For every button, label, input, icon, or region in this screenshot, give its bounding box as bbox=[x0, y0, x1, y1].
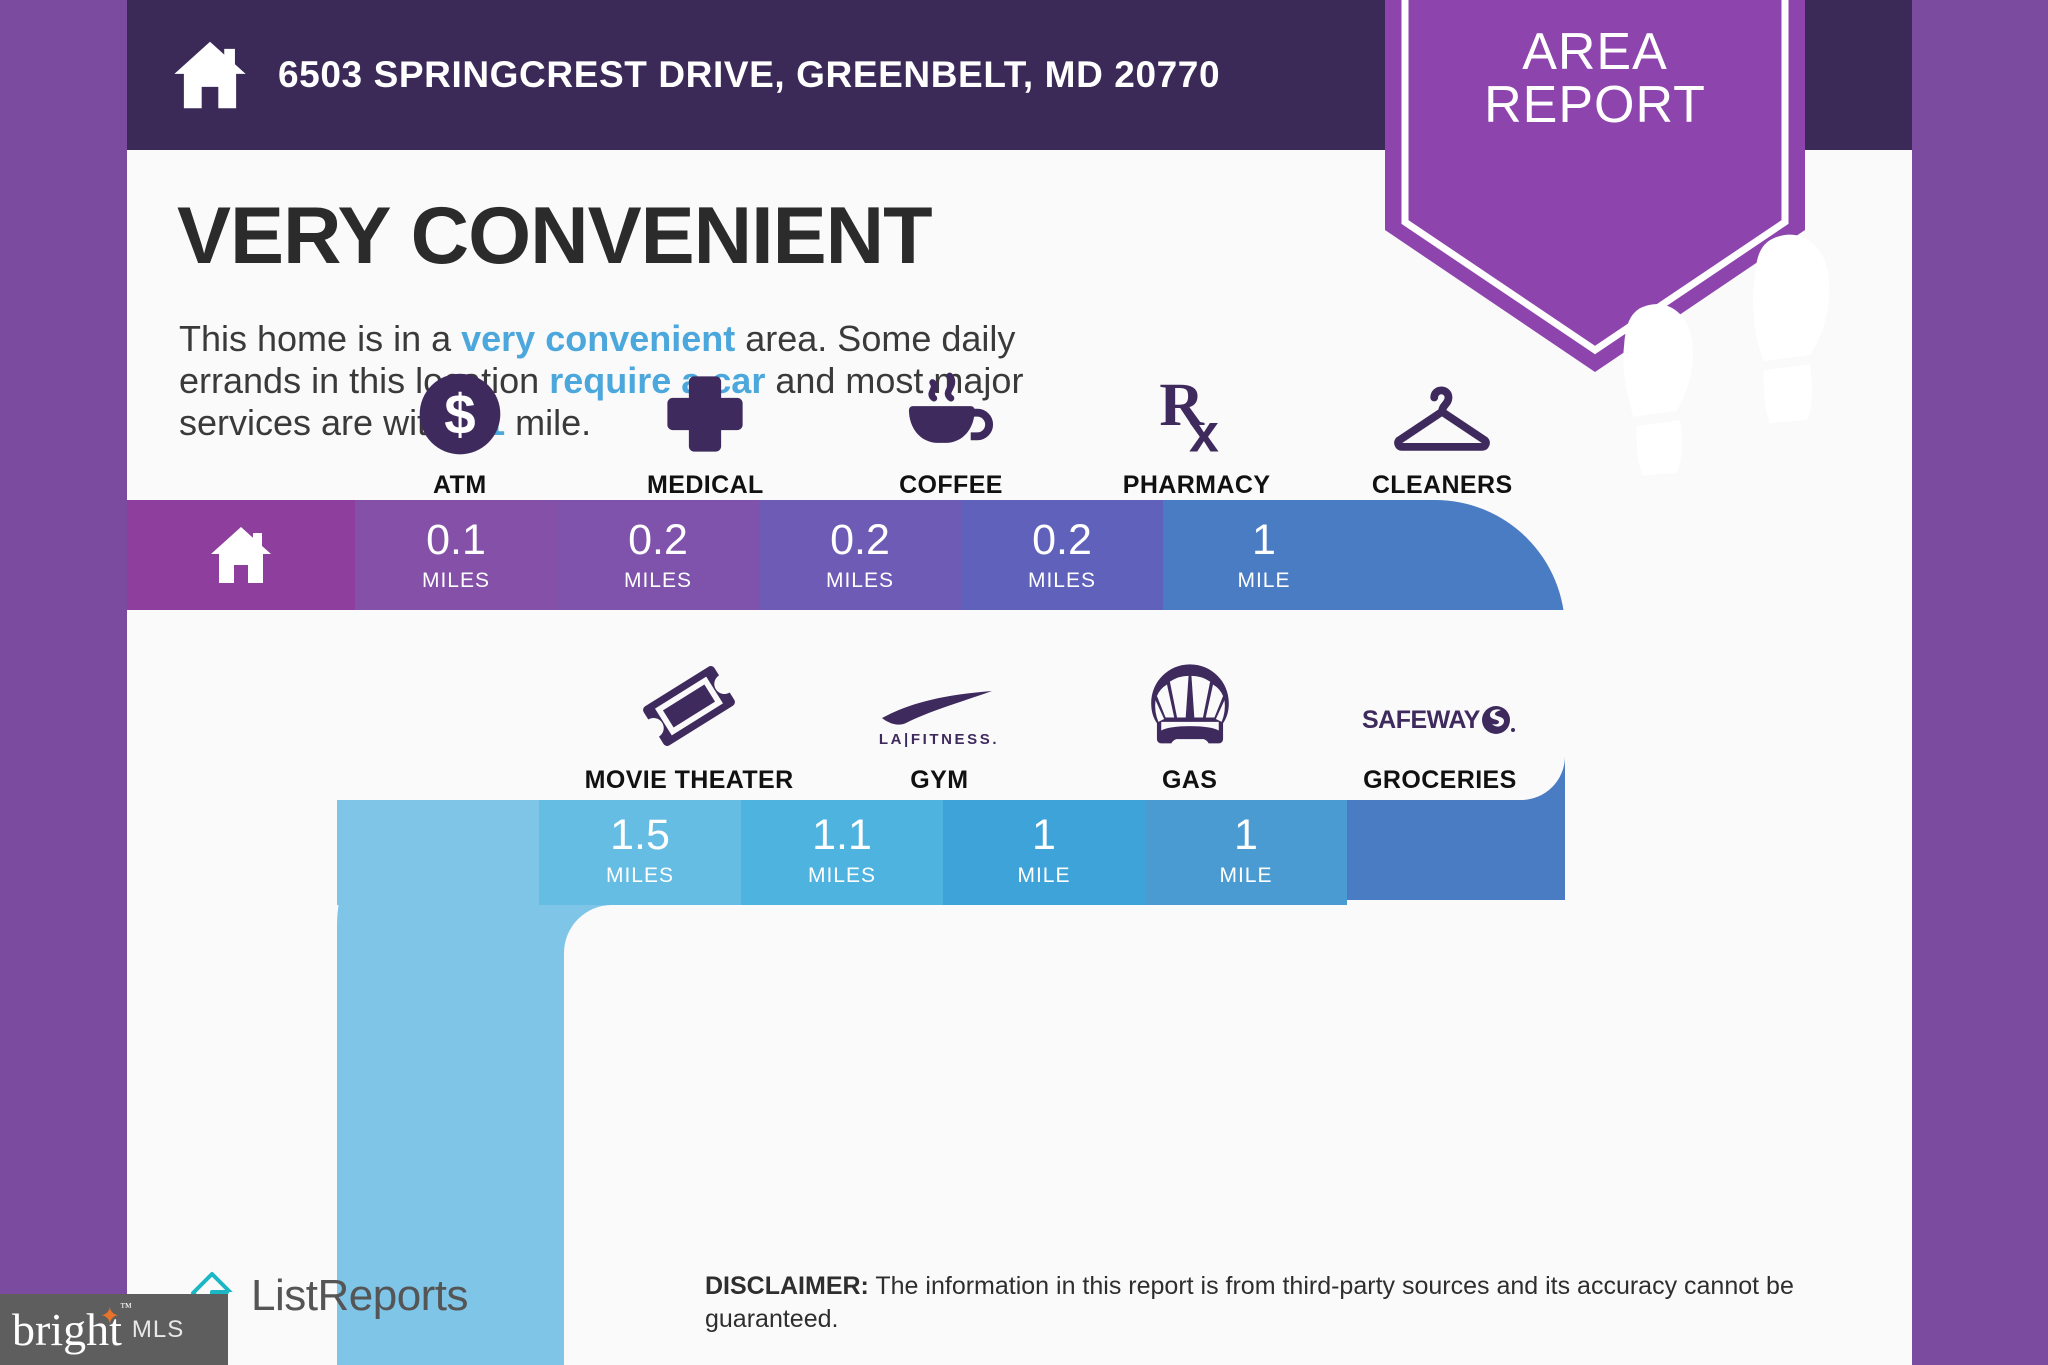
bright-mls-watermark: bright ✦ ™ MLS bbox=[0, 1294, 228, 1365]
movie-ticket-icon bbox=[643, 660, 735, 752]
svg-text:SAFEWAY: SAFEWAY bbox=[1362, 706, 1481, 734]
svg-text:LA|FITNESS.: LA|FITNESS. bbox=[879, 731, 999, 748]
bar-lead-cell bbox=[337, 795, 539, 905]
amenity-label: MEDICAL bbox=[647, 471, 764, 500]
listreports-name: ListReports bbox=[251, 1271, 468, 1321]
coffee-cup-icon bbox=[905, 371, 997, 457]
distance-value: 1.1 bbox=[812, 814, 872, 857]
distance-bar-row2: 1.5 MILES 1.1 MILES 1 MILE 1 MILE bbox=[337, 795, 1565, 905]
area-report-page: 6503 SPRINGCREST DRIVE, GREENBELT, MD 20… bbox=[0, 0, 2048, 1365]
amenity-label: MOVIE THEATER bbox=[585, 766, 794, 795]
amenity-label: ATM bbox=[433, 471, 487, 500]
distance-cell-pharmacy: 0.2 MILES bbox=[961, 500, 1163, 610]
amenity-pharmacy: R x PHARMACY bbox=[1074, 400, 1320, 500]
amenity-label: CLEANERS bbox=[1372, 471, 1513, 500]
distance-value: 0.2 bbox=[628, 519, 688, 562]
amenity-label: GAS bbox=[1162, 766, 1217, 795]
disclaimer: DISCLAIMER: The information in this repo… bbox=[705, 1270, 1815, 1337]
distance-value: 0.2 bbox=[1032, 519, 1092, 562]
distance-cell-gym: 1.1 MILES bbox=[741, 795, 943, 905]
distance-cell-coffee: 0.2 MILES bbox=[759, 500, 961, 610]
distance-unit: MILES bbox=[1028, 570, 1096, 591]
distance-value: 1.5 bbox=[610, 814, 670, 857]
watermark-bright: bright ✦ ™ bbox=[12, 1307, 122, 1353]
amenity-icons-row2: MOVIE THEATER LA|FITNESS. GYM bbox=[564, 690, 1565, 795]
amenity-label: COFFEE bbox=[899, 471, 1003, 500]
shell-logo bbox=[1144, 660, 1236, 752]
watermark-mls: MLS bbox=[132, 1316, 184, 1344]
distance-unit: MILES bbox=[826, 570, 894, 591]
dollar-circle-icon: $ bbox=[417, 371, 503, 457]
amenity-gas: GAS bbox=[1065, 690, 1315, 795]
distance-unit: MILES bbox=[808, 865, 876, 886]
content-sheet: 6503 SPRINGCREST DRIVE, GREENBELT, MD 20… bbox=[127, 0, 1912, 1365]
star-icon: ✦ bbox=[100, 1305, 120, 1329]
trademark-icon: ™ bbox=[120, 1301, 132, 1313]
distance-bar-row1: 0.1 MILES 0.2 MILES 0.2 MILES 0.2 MILES … bbox=[127, 500, 1365, 610]
disclaimer-label: DISCLAIMER: bbox=[705, 1272, 869, 1300]
distance-unit: MILES bbox=[606, 865, 674, 886]
distance-cell-medical: 0.2 MILES bbox=[557, 500, 759, 610]
distance-value: 0.1 bbox=[426, 519, 486, 562]
bar-home-cell bbox=[127, 500, 355, 610]
home-icon bbox=[209, 523, 273, 587]
footprints-icon bbox=[1535, 172, 1912, 544]
distance-unit: MILE bbox=[1237, 570, 1290, 591]
distance-value: 1 bbox=[1252, 519, 1276, 562]
distance-cell-gas: 1 MILE bbox=[943, 795, 1145, 905]
amenity-medical: MEDICAL bbox=[583, 400, 829, 500]
distance-value: 1 bbox=[1234, 814, 1258, 857]
amenity-groceries: SAFEWAY GROCERIES bbox=[1315, 690, 1565, 795]
listreports-logo: ListReports bbox=[187, 1268, 468, 1323]
badge-line-1: AREA bbox=[1385, 26, 1805, 79]
rx-icon: R x bbox=[1154, 371, 1240, 457]
distance-cell-cleaners: 1 MILE bbox=[1163, 500, 1365, 610]
amenity-atm: $ ATM bbox=[337, 400, 583, 500]
distance-cell-atm: 0.1 MILES bbox=[355, 500, 557, 610]
amenity-icons-row1: $ ATM MEDICAL bbox=[337, 400, 1565, 500]
distance-value: 0.2 bbox=[830, 519, 890, 562]
amenity-gym: LA|FITNESS. GYM bbox=[814, 690, 1064, 795]
disclaimer-text: The information in this report is from t… bbox=[705, 1272, 1794, 1333]
safeway-logo: SAFEWAY bbox=[1360, 690, 1520, 752]
amenity-label: PHARMACY bbox=[1123, 471, 1271, 500]
distance-unit: MILE bbox=[1219, 865, 1272, 886]
distance-cell-movie-theater: 1.5 MILES bbox=[539, 795, 741, 905]
distance-unit: MILE bbox=[1017, 865, 1070, 886]
svg-text:$: $ bbox=[444, 383, 475, 446]
hanger-icon bbox=[1390, 377, 1494, 457]
distance-cell-groceries: 1 MILE bbox=[1145, 795, 1347, 905]
distance-unit: MILES bbox=[624, 570, 692, 591]
amenity-label: GROCERIES bbox=[1363, 766, 1517, 795]
badge-line-2: REPORT bbox=[1385, 79, 1805, 132]
amenity-cleaners: CLEANERS bbox=[1319, 400, 1565, 500]
area-report-badge: AREA REPORT bbox=[1385, 0, 1805, 372]
medical-cross-icon bbox=[662, 371, 748, 457]
distance-value: 1 bbox=[1032, 814, 1056, 857]
la-fitness-logo: LA|FITNESS. bbox=[864, 684, 1014, 752]
badge-text: AREA REPORT bbox=[1385, 26, 1805, 132]
distance-unit: MILES bbox=[422, 570, 490, 591]
svg-text:x: x bbox=[1189, 404, 1219, 457]
amenity-movie-theater: MOVIE THEATER bbox=[564, 690, 814, 795]
amenity-coffee: COFFEE bbox=[828, 400, 1074, 500]
amenity-label: GYM bbox=[910, 766, 968, 795]
